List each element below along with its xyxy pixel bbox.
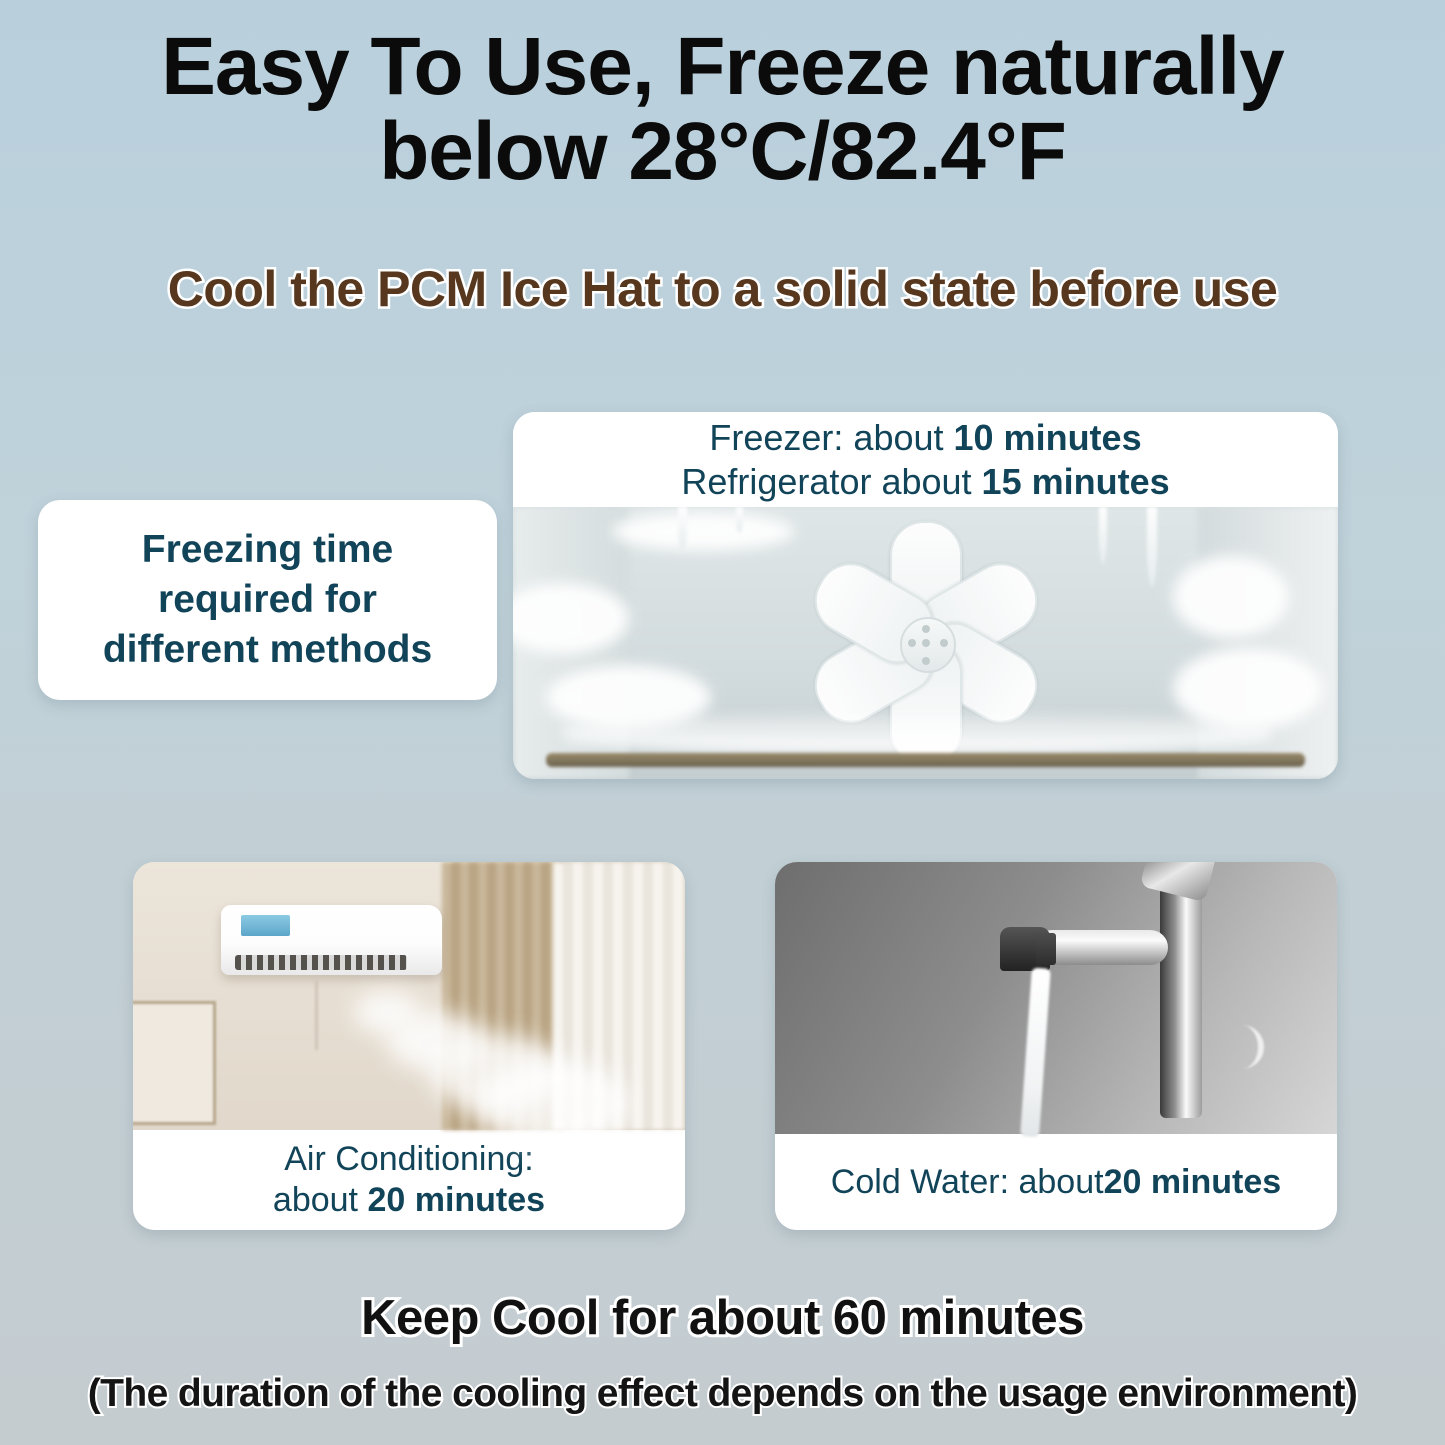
air-conditioning-caption: Air Conditioning: about 20 minutes bbox=[133, 1130, 685, 1230]
cold-water-photo bbox=[775, 862, 1337, 1134]
freezer-caption-line-2: Refrigerator about 15 minutes bbox=[681, 460, 1169, 504]
ac-line-2-prefix: about bbox=[273, 1181, 368, 1219]
wall-picture-frame bbox=[133, 1001, 216, 1125]
running-water-stream bbox=[1020, 968, 1051, 1138]
freezer-method-card: Freezer: about 10 minutes Refrigerator a… bbox=[513, 412, 1338, 779]
insert-hub bbox=[900, 617, 956, 673]
ac-vent-louvers bbox=[235, 955, 407, 970]
frost-patch bbox=[612, 512, 794, 550]
freezing-time-label-line-2: required for bbox=[103, 575, 432, 625]
freezer-caption: Freezer: about 10 minutes Refrigerator a… bbox=[513, 412, 1338, 507]
ac-caption-line-1: Air Conditioning: bbox=[284, 1139, 533, 1180]
air-conditioning-photo bbox=[133, 862, 685, 1130]
footer-main-text: Keep Cool for about 60 minutes bbox=[0, 1290, 1445, 1346]
ac-power-cord bbox=[315, 980, 318, 1050]
faucet-ring bbox=[1036, 933, 1056, 966]
freezing-time-label-card: Freezing time required for different met… bbox=[38, 500, 497, 700]
water-line-1-prefix: Cold Water: about bbox=[831, 1163, 1104, 1202]
footer-note-text: (The duration of the cooling effect depe… bbox=[0, 1372, 1445, 1416]
freezing-time-label-line-3: different methods bbox=[103, 625, 432, 675]
ac-caption-line-2: about 20 minutes bbox=[273, 1180, 545, 1221]
freezer-line-2-prefix: Refrigerator about bbox=[681, 461, 981, 502]
faucet-body bbox=[1160, 862, 1202, 1118]
faucet-hose bbox=[1219, 1025, 1264, 1069]
freezer-caption-line-1: Freezer: about 10 minutes bbox=[709, 416, 1141, 460]
page-subtitle: Cool the PCM Ice Hat to a solid state be… bbox=[0, 262, 1445, 317]
air-conditioner-unit bbox=[221, 905, 442, 975]
freezer-line-1-value: 10 minutes bbox=[954, 417, 1142, 458]
ac-display-panel bbox=[241, 915, 290, 936]
freezer-line-1-prefix: Freezer: about bbox=[709, 417, 953, 458]
ac-line-2-value: 20 minutes bbox=[367, 1181, 545, 1219]
page-title-line-2: below 28°C/82.4°F bbox=[0, 109, 1445, 194]
icicle bbox=[736, 507, 743, 533]
frost-patch bbox=[1173, 556, 1289, 638]
shelf-frost bbox=[563, 713, 1273, 753]
freezer-photo bbox=[513, 507, 1338, 779]
cold-mist bbox=[475, 1060, 630, 1146]
freezing-time-label-line-1: Freezing time bbox=[103, 525, 432, 575]
air-conditioning-method-card: Air Conditioning: about 20 minutes bbox=[133, 862, 685, 1230]
cold-water-method-card: Cold Water: about 20 minutes bbox=[775, 862, 1337, 1230]
icicle bbox=[1099, 507, 1107, 565]
faucet-handle bbox=[1140, 862, 1220, 902]
icicle bbox=[678, 507, 687, 551]
water-line-1-value: 20 minutes bbox=[1104, 1163, 1282, 1202]
icicle bbox=[1147, 507, 1157, 587]
freezing-time-label-text: Freezing time required for different met… bbox=[103, 525, 432, 675]
page-title-line-1: Easy To Use, Freeze naturally bbox=[161, 21, 1284, 112]
freezer-shelf bbox=[546, 753, 1305, 767]
page-title: Easy To Use, Freeze naturally below 28°C… bbox=[0, 24, 1445, 195]
cold-water-caption: Cold Water: about 20 minutes bbox=[775, 1134, 1337, 1230]
freezer-line-2-value: 15 minutes bbox=[982, 461, 1170, 502]
